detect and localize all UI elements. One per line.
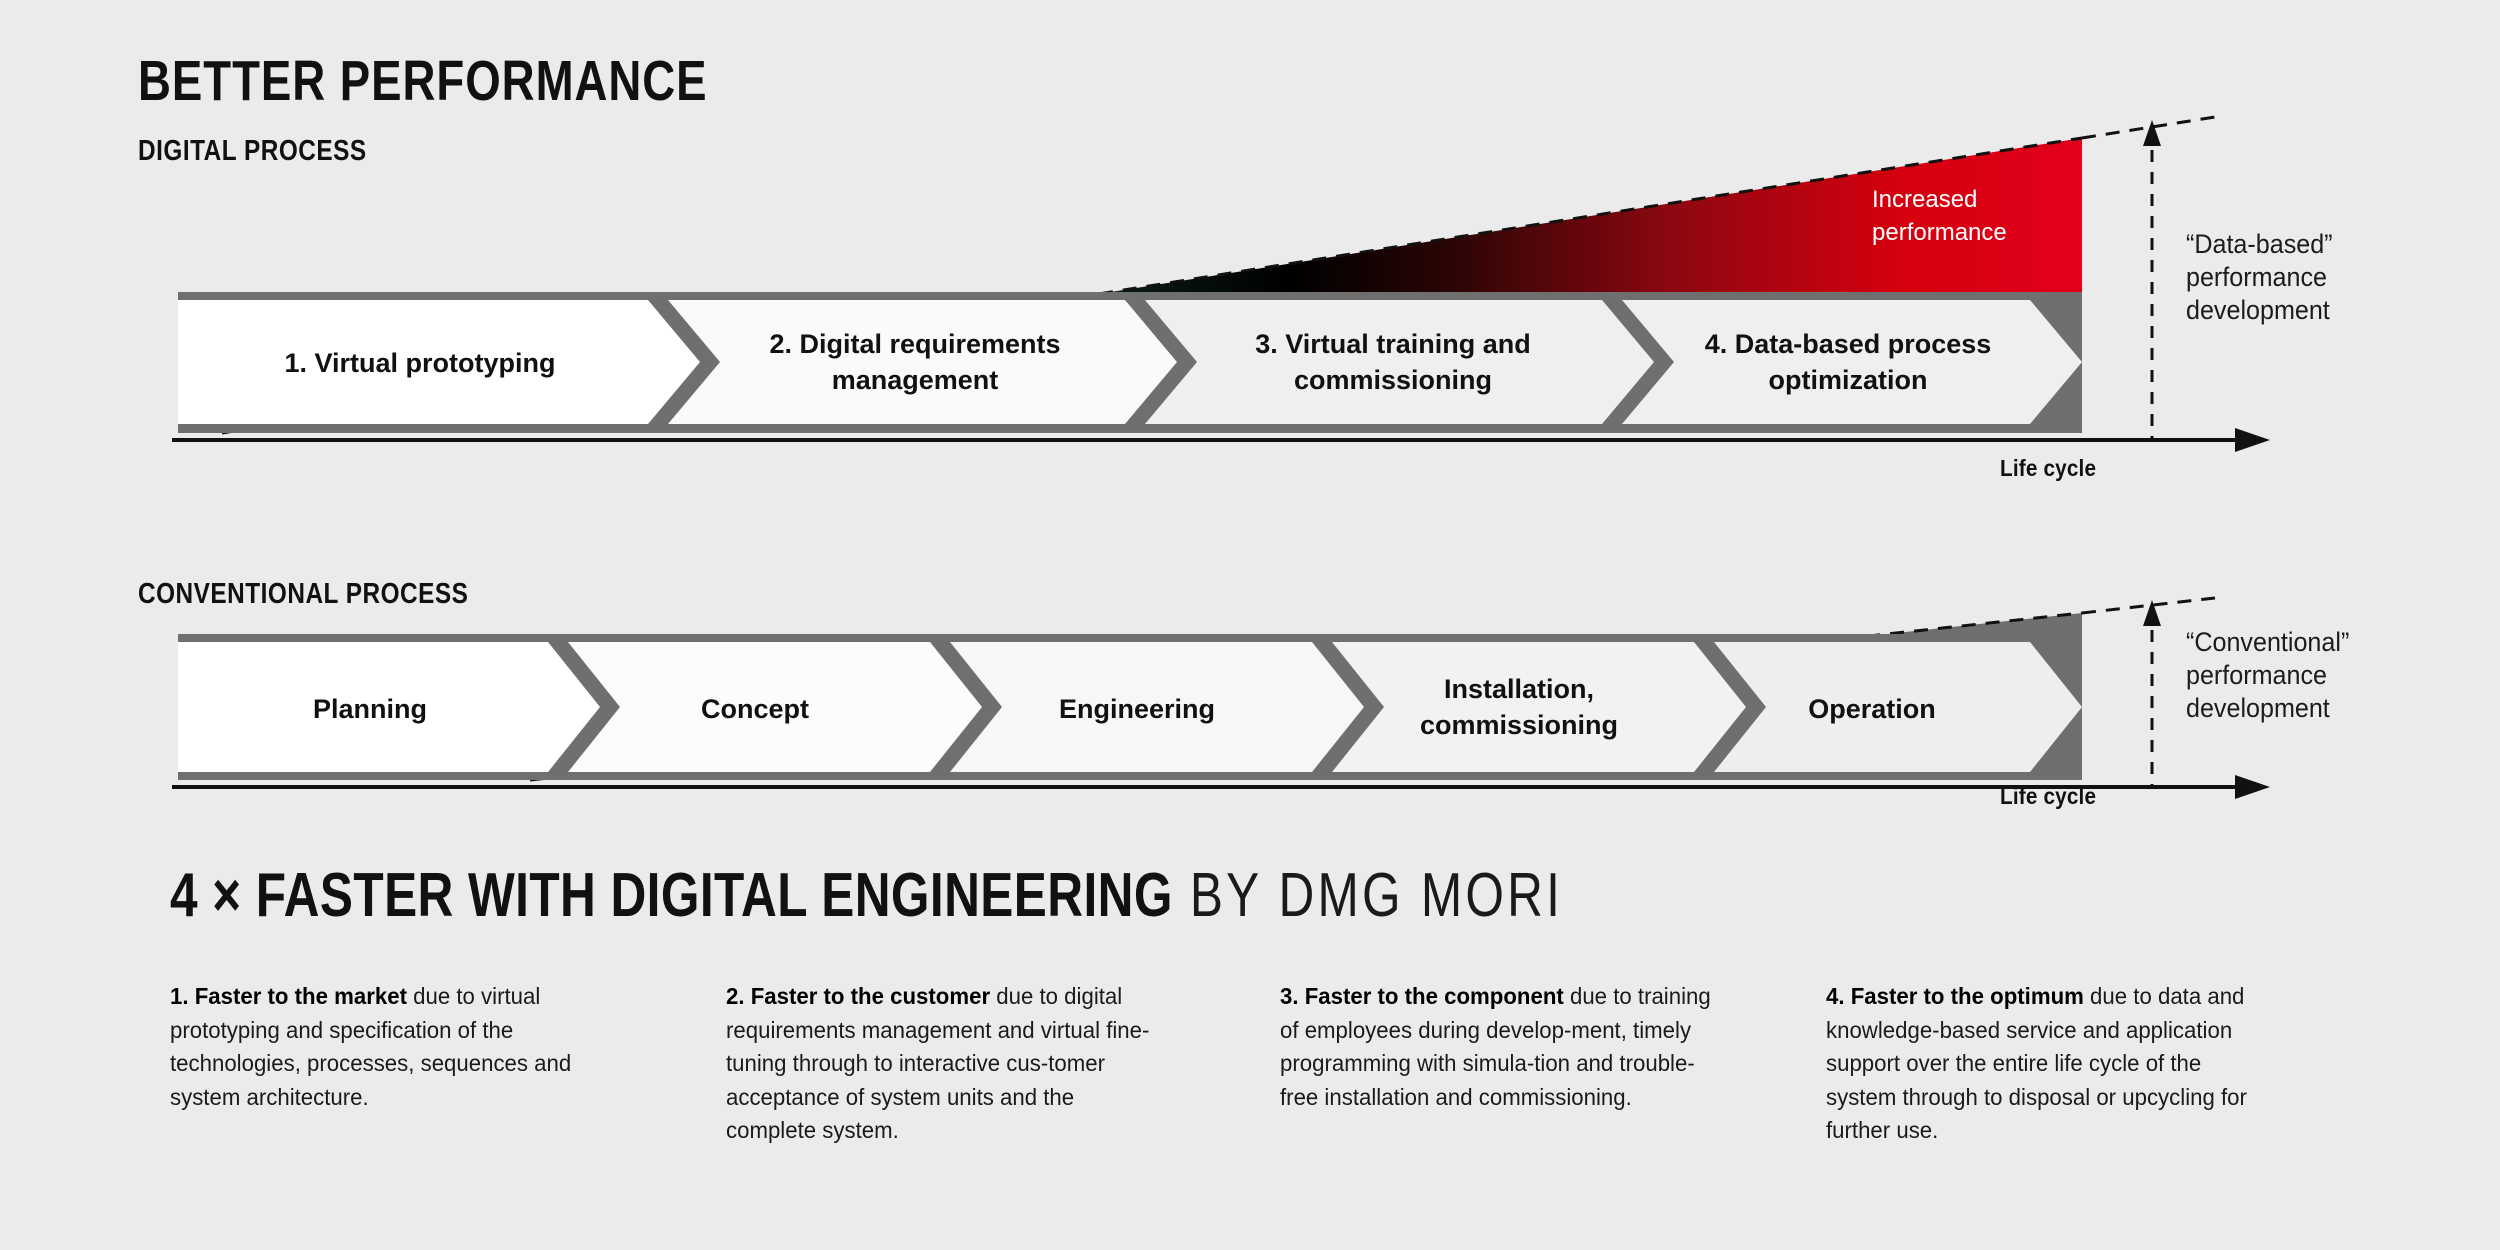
conventional-stage-5[interactable]: Operation — [1714, 642, 2082, 772]
digital-stage-3-label-line1: 3. Virtual training and — [1255, 329, 1531, 359]
benefit-3-lead: 3. Faster to the component — [1280, 983, 1564, 1009]
headline-strong: 4 × FASTER WITH DIGITAL ENGINEERING — [170, 861, 1173, 930]
conventional-lifecycle-label: Life cycle — [2000, 783, 2096, 810]
benefit-1-lead: 1. Faster to the market — [170, 983, 407, 1009]
benefit-column-3: 3. Faster to the component due to traini… — [1280, 980, 1724, 1114]
increased-performance-label-line1: Increased — [1872, 186, 1977, 213]
conventional-annotation: “Conventional” performance development — [2186, 626, 2349, 725]
infographic-root: BETTER PERFORMANCE DIGITAL PROCESS — [0, 0, 2500, 1250]
headline-light: BY DMG MORI — [1173, 861, 1563, 930]
increased-performance-label-line2: performance — [1872, 219, 2007, 246]
benefit-column-1: 1. Faster to the market due to virtual p… — [170, 980, 614, 1114]
conventional-stage-4-label-line1: Installation, — [1444, 674, 1594, 704]
digital-stage-2[interactable]: 2. Digital requirements management — [668, 300, 1177, 424]
benefit-column-2: 2. Faster to the customer due to digital… — [726, 980, 1170, 1148]
conventional-process-label: CONVENTIONAL PROCESS — [138, 578, 468, 611]
conventional-stage-3[interactable]: Engineering — [950, 642, 1364, 772]
digital-stage-1-label: 1. Virtual prototyping — [284, 348, 555, 378]
digital-stage-4-label-line2: optimization — [1769, 365, 1928, 395]
digital-lifecycle-label: Life cycle — [2000, 455, 2096, 482]
digital-stage-4[interactable]: 4. Data-based process optimization — [1622, 300, 2082, 424]
digital-stage-3-label-line2: commissioning — [1294, 365, 1492, 395]
benefit-column-4: 4. Faster to the optimum due to data and… — [1826, 980, 2270, 1148]
conventional-stage-4[interactable]: Installation, commissioning — [1332, 642, 1746, 772]
digital-stage-4-label-line1: 4. Data-based process — [1705, 329, 1992, 359]
digital-stage-2-label-line1: 2. Digital requirements — [769, 329, 1060, 359]
benefit-4-lead: 4. Faster to the optimum — [1826, 983, 2084, 1009]
conventional-stage-1[interactable]: Planning — [178, 642, 600, 772]
conventional-stage-3-label: Engineering — [1059, 694, 1215, 724]
conventional-stage-4-label-line2: commissioning — [1420, 710, 1618, 740]
conventional-stage-1-label: Planning — [313, 694, 427, 724]
digital-stage-2-label-line2: management — [832, 365, 999, 395]
headline: 4 × FASTER WITH DIGITAL ENGINEERING BY D… — [170, 860, 1563, 931]
digital-annotation: “Data-based” performance development — [2186, 228, 2333, 327]
digital-stage-1[interactable]: 1. Virtual prototyping — [178, 300, 700, 424]
benefit-2-lead: 2. Faster to the customer — [726, 983, 990, 1009]
conventional-measure-arrow — [2143, 600, 2161, 787]
digital-stage-3[interactable]: 3. Virtual training and commissioning — [1145, 300, 1654, 424]
conventional-stage-2-label: Concept — [701, 694, 809, 724]
digital-measure-arrow — [2143, 120, 2161, 440]
conventional-stage-5-label: Operation — [1808, 694, 1936, 724]
conventional-stage-2[interactable]: Concept — [568, 642, 982, 772]
